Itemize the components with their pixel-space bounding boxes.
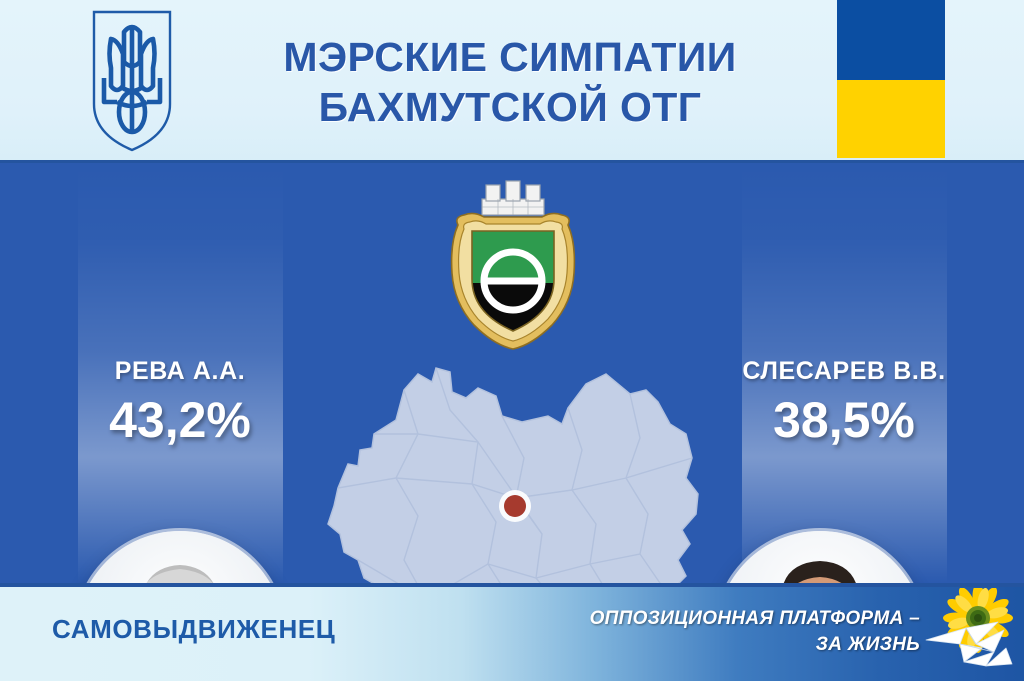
party-line-1: ОППОЗИЦИОННАЯ ПЛАТФОРМА –	[560, 606, 920, 632]
poster-header: МЭРСКИЕ СИМПАТИИ БАХМУТСКОЙ ОТГ	[0, 0, 1024, 163]
flag-blue-stripe	[837, 0, 945, 80]
candidate-percent-right: 38,5%	[714, 391, 974, 449]
flag-yellow-stripe	[837, 80, 945, 158]
sunflower-dove-icon	[920, 588, 1022, 680]
candidate-name-right: СЛЕСАРЕВ В.В.	[714, 357, 974, 386]
infographic-poster: МЭРСКИЕ СИМПАТИИ БАХМУТСКОЙ ОТГ	[0, 0, 1024, 681]
bakhmut-hromada-map	[300, 338, 730, 583]
affiliation-right-label: ОППОЗИЦИОННАЯ ПЛАТФОРМА – ЗА ЖИЗНЬ	[560, 606, 920, 657]
ukraine-trident-icon	[84, 8, 180, 154]
affiliation-left-label: САМОВЫДВИЖЕНЕЦ	[52, 614, 335, 645]
poster-main: Бахмут	[0, 163, 1024, 583]
candidate-name-left: РЕВА А.А.	[50, 357, 310, 386]
candidate-percent-left: 43,2%	[50, 391, 310, 449]
party-line-2: ЗА ЖИЗНЬ	[560, 632, 920, 658]
page-title: МЭРСКИЕ СИМПАТИИ БАХМУТСКОЙ ОТГ	[200, 18, 820, 146]
footer-divider	[0, 583, 1024, 587]
ukraine-flag-icon	[837, 0, 945, 158]
title-line-1: МЭРСКИЕ СИМПАТИИ	[283, 32, 736, 82]
title-line-2: БАХМУТСКОЙ ОТГ	[319, 82, 702, 132]
bakhmut-coat-of-arms-icon	[440, 173, 586, 353]
